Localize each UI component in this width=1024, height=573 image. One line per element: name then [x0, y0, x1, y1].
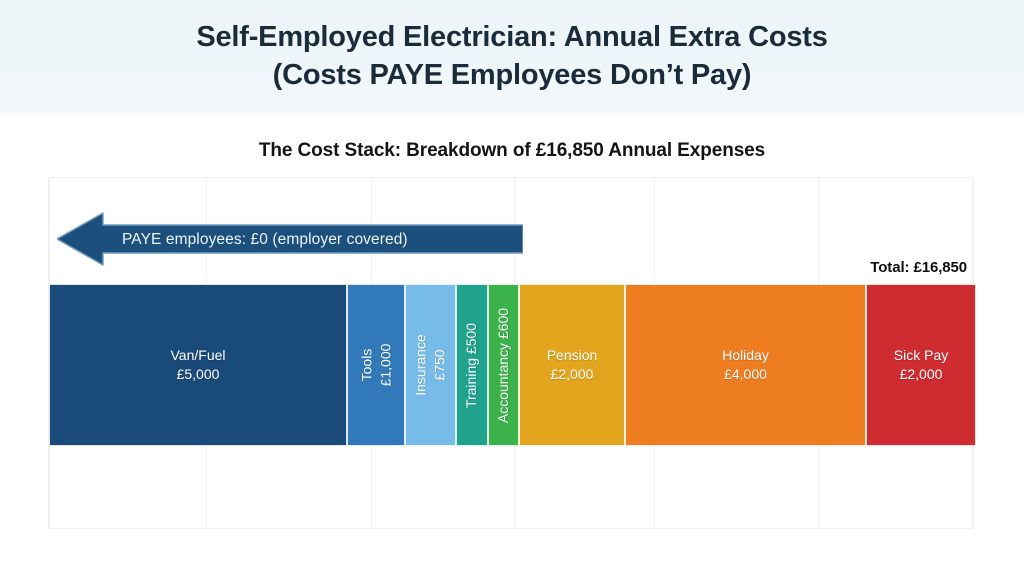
- segment-name: Sick Pay: [894, 347, 948, 363]
- title-line-2: (Costs PAYE Employees Don’t Pay): [0, 56, 1024, 94]
- segment-value: £2,000: [900, 366, 943, 382]
- bar-segment-insurance[interactable]: Insurance£750: [405, 284, 456, 446]
- bar-segment-label: Tools£1,000: [357, 344, 395, 387]
- segment-name: Tools: [358, 349, 374, 382]
- title-line-1: Self-Employed Electrician: Annual Extra …: [0, 18, 1024, 56]
- bar-segment-label: Holiday£4,000: [722, 346, 769, 384]
- total-label: Total: £16,850: [865, 257, 972, 278]
- bar-segment-label: Van/Fuel£5,000: [171, 346, 226, 384]
- segment-name: Pension: [547, 347, 598, 363]
- stacked-bar: Van/Fuel£5,000 Tools£1,000 Insurance£750…: [49, 284, 976, 446]
- bar-segment-label: Sick Pay£2,000: [894, 346, 948, 384]
- segment-name: Accountancy £600: [494, 307, 513, 422]
- bar-segment-label: Pension£2,000: [547, 346, 598, 384]
- segment-name: Van/Fuel: [171, 347, 226, 363]
- bar-segment-pension[interactable]: Pension£2,000: [519, 284, 625, 446]
- bar-segment-sick-pay[interactable]: Sick Pay£2,000: [866, 284, 976, 446]
- bar-segment-label: Training £500: [463, 322, 482, 407]
- segment-value: £1,000: [377, 344, 393, 387]
- segment-name: Holiday: [722, 347, 769, 363]
- chart-title: The Cost Stack: Breakdown of £16,850 Ann…: [0, 140, 1024, 162]
- plot-area: PAYE employees: £0 (employer covered) To…: [48, 177, 973, 529]
- segment-name: Insurance: [413, 334, 429, 395]
- chart-container: The Cost Stack: Breakdown of £16,850 Ann…: [0, 113, 1024, 573]
- segment-value: £2,000: [551, 366, 594, 382]
- bar-segment-training[interactable]: Training £500: [456, 284, 488, 446]
- segment-value: £750: [432, 349, 448, 380]
- arrow-left-icon: [57, 205, 523, 273]
- bar-segment-label: Insurance£750: [412, 334, 450, 395]
- header-band: Self-Employed Electrician: Annual Extra …: [0, 0, 1024, 113]
- bar-segment-accountancy[interactable]: Accountancy £600: [488, 284, 519, 446]
- segment-value: £5,000: [177, 366, 220, 382]
- bar-segment-holiday[interactable]: Holiday£4,000: [625, 284, 866, 446]
- bar-segment-tools[interactable]: Tools£1,000: [347, 284, 405, 446]
- paye-arrow-annotation: PAYE employees: £0 (employer covered): [57, 205, 523, 273]
- segment-value: £4,000: [724, 366, 767, 382]
- page-title: Self-Employed Electrician: Annual Extra …: [0, 18, 1024, 94]
- bar-segment-van-fuel[interactable]: Van/Fuel£5,000: [49, 284, 347, 446]
